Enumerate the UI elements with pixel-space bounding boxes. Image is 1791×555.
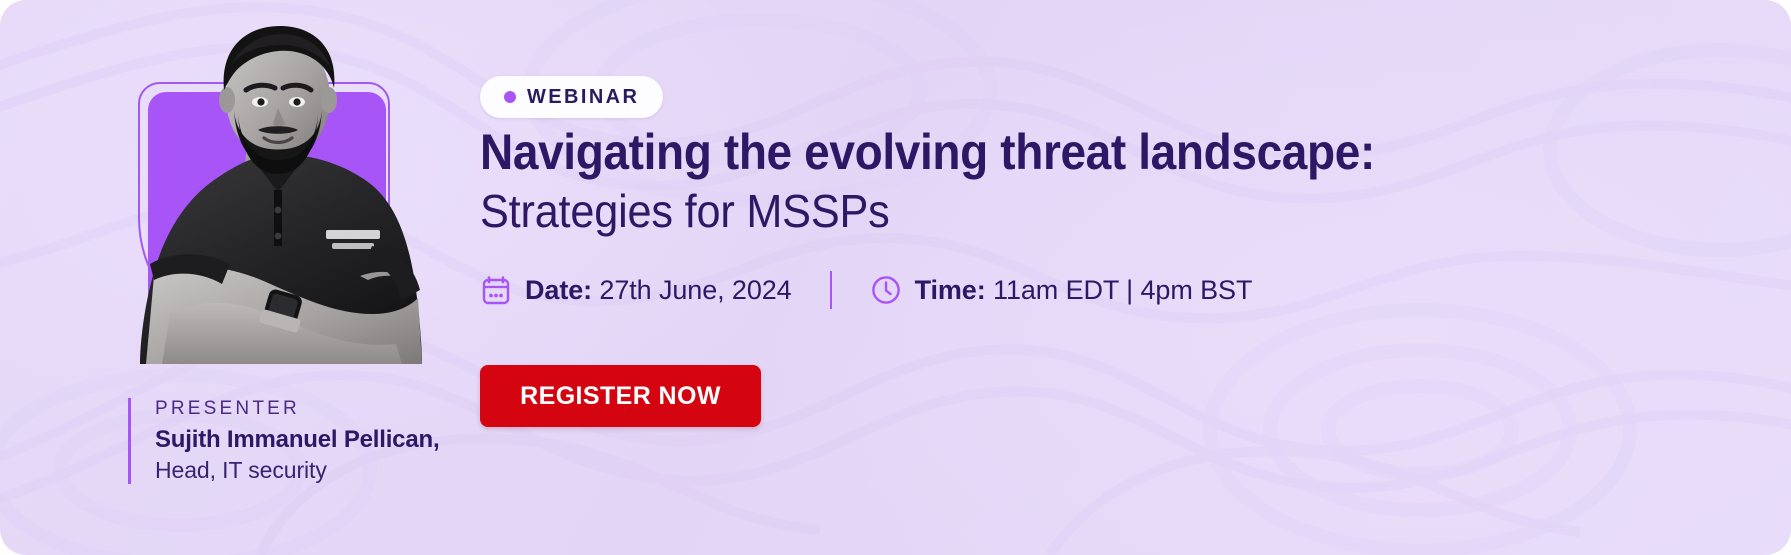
badge-label: WEBINAR — [527, 86, 639, 109]
banner-content: WEBINAR Navigating the evolving threat l… — [480, 0, 1760, 555]
page-subtitle: Strategies for MSSPs — [480, 182, 890, 240]
page-title: Navigating the evolving threat landscape… — [480, 122, 1375, 182]
event-date-label: Date: — [525, 275, 592, 305]
event-time-label: Time: — [915, 275, 986, 305]
calendar-icon — [480, 274, 512, 306]
meta-divider — [830, 271, 832, 309]
event-time: Time: 11am EDT | 4pm BST — [870, 274, 1253, 306]
presenter-role: Head, IT security — [155, 457, 439, 484]
presenter-photo-block — [110, 14, 440, 364]
presenter-photo — [110, 14, 440, 364]
event-date: Date: 27th June, 2024 — [480, 274, 792, 306]
register-now-button[interactable]: REGISTER NOW — [480, 365, 761, 427]
presenter-caption: PRESENTER Sujith Immanuel Pellican, Head… — [128, 398, 439, 484]
clock-icon — [870, 274, 902, 306]
event-time-value: 11am EDT | 4pm BST — [993, 275, 1252, 305]
event-time-text: Time: 11am EDT | 4pm BST — [915, 275, 1253, 306]
presenter-kicker: PRESENTER — [155, 398, 439, 420]
event-meta-row: Date: 27th June, 2024 Time: 11am EDT | 4… — [480, 264, 1252, 316]
badge-dot-icon — [504, 91, 516, 103]
presenter-name: Sujith Immanuel Pellican, — [155, 426, 439, 454]
event-date-text: Date: 27th June, 2024 — [525, 275, 792, 306]
webinar-banner: PRESENTER Sujith Immanuel Pellican, Head… — [0, 0, 1791, 555]
webinar-badge: WEBINAR — [480, 76, 663, 118]
event-date-value: 27th June, 2024 — [599, 275, 791, 305]
